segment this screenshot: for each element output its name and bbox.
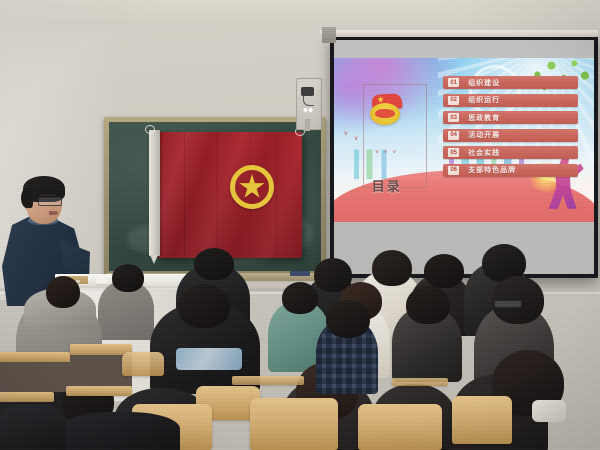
jacket-graphic-print (176, 348, 242, 370)
student-gray-coat-head (112, 264, 144, 292)
menu-item-label: 组织建设 (468, 78, 500, 88)
sensor-icon (302, 106, 314, 114)
league-emblem-icon (230, 165, 274, 209)
desk-surface (0, 352, 70, 362)
slide-title: 目录 (372, 176, 402, 195)
student-back-4-head (424, 254, 464, 288)
menu-item-label: 思政教育 (468, 113, 500, 123)
communist-youth-league-flag (158, 132, 302, 258)
student-back-1-head (194, 248, 234, 280)
desk-surface (392, 378, 448, 386)
slide-menu-list: 01 组织建设 02 组织运行 03 思政教育 04 活动开展 (443, 76, 578, 181)
presenter-mouth (49, 211, 58, 215)
menu-item-number: 03 (448, 113, 459, 122)
presenter-brow (40, 194, 56, 196)
menu-item-number: 02 (448, 96, 459, 105)
screen-rail (320, 30, 598, 37)
bird-icon: ᵛ (344, 130, 347, 139)
desk-surface (70, 344, 132, 355)
slide-menu-item: 01 组织建设 (443, 76, 578, 89)
foreground-student-silhouette (0, 404, 66, 450)
slide-menu-item: 06 支部特色品牌 (443, 164, 578, 177)
glasses-arm-icon (30, 199, 39, 200)
menu-item-label: 组织运行 (468, 95, 500, 105)
classroom-photo: ᵛ ᵛ ᵛ ᵛ ᵛ ᵛ ᵛ ᵛ ᵛ (0, 0, 600, 450)
chair-back (250, 398, 338, 450)
student-fur-hood-head (46, 276, 80, 308)
desk-surface (0, 392, 54, 402)
menu-item-label: 活动开展 (468, 130, 500, 140)
slide-menu-item: 02 组织运行 (443, 94, 578, 107)
projection-screen: ᵛ ᵛ ᵛ ᵛ ᵛ ᵛ ᵛ ᵛ ᵛ (330, 36, 598, 278)
flag-hoist-strip (149, 130, 160, 256)
speaker-body-icon (301, 87, 314, 96)
menu-item-number: 01 (448, 78, 459, 87)
slide-league-emblem-icon (369, 94, 403, 126)
chair-back (122, 352, 164, 376)
screen-surface: ᵛ ᵛ ᵛ ᵛ ᵛ ᵛ ᵛ ᵛ ᵛ (334, 40, 594, 274)
presenter-hair-side (21, 188, 33, 208)
glasses-icon (494, 300, 522, 308)
hair-clip (532, 400, 566, 422)
student-dark-coat-head (406, 286, 450, 324)
menu-item-number: 05 (448, 148, 459, 157)
glasses-icon (38, 197, 62, 206)
desk-surface (66, 386, 132, 396)
wall-mounted-speaker (296, 78, 322, 130)
student-teal-jacket-head (282, 282, 318, 314)
presentation-slide: ᵛ ᵛ ᵛ ᵛ ᵛ ᵛ ᵛ ᵛ ᵛ (334, 58, 594, 222)
menu-item-label: 支部特色品牌 (468, 165, 516, 175)
screen-mount-bracket (322, 27, 336, 43)
speaker-cable (303, 96, 314, 106)
slide-menu-item: 03 思政教育 (443, 111, 578, 124)
menu-item-number: 04 (448, 131, 459, 140)
chair-back (452, 396, 512, 444)
desk-panel (0, 362, 70, 392)
flag-tie (145, 125, 155, 134)
student-black-puffer-head (178, 284, 230, 328)
menu-item-number: 06 (448, 166, 459, 175)
chair-back (358, 404, 442, 450)
student-white-coat-head (372, 250, 412, 286)
foreground-student-silhouette (60, 412, 180, 450)
slide-menu-item: 04 活动开展 (443, 129, 578, 142)
speaker-mount (305, 119, 310, 131)
student-plaid-shirt-head (326, 300, 370, 338)
toc-bird-icons: ᵛ ᵛ ᵛ (376, 148, 398, 157)
slide-menu-item: 05 社会实践 (443, 146, 578, 159)
desk-surface (232, 376, 304, 385)
menu-item-label: 社会实践 (468, 148, 500, 158)
